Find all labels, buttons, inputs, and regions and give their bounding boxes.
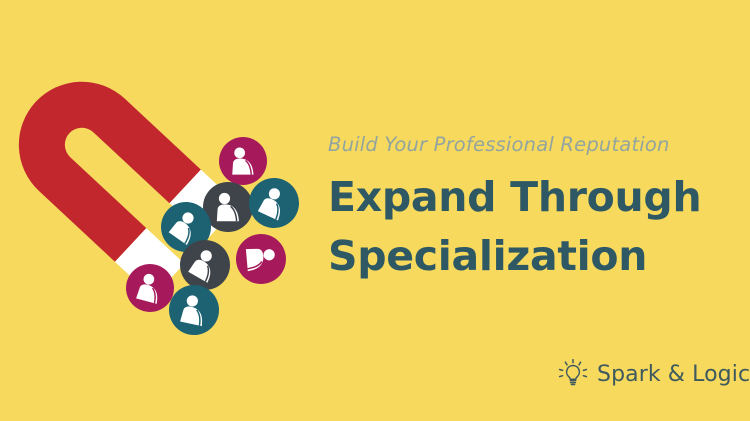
text-block: Build Your Professional Reputation Expan… — [328, 134, 728, 285]
slide-headline: Expand Through Specialization — [328, 168, 728, 284]
person-head — [234, 147, 245, 158]
slide-subtitle: Build Your Professional Reputation — [328, 134, 728, 155]
lightbulb-icon — [556, 357, 590, 391]
logo-wordmark: Spark & Logic — [597, 362, 750, 387]
person-circle-6 — [234, 232, 288, 286]
person-circle-1 — [219, 137, 267, 185]
headline-line-2: Specialization — [328, 227, 728, 285]
slide-canvas: Build Your Professional Reputation Expan… — [0, 0, 750, 421]
headline-line-1: Expand Through — [328, 168, 728, 226]
artwork-svg — [0, 0, 340, 421]
magnet-attraction-illustration — [0, 0, 340, 421]
brand-logo: Spark & Logic — [556, 357, 750, 391]
person-head — [219, 193, 230, 204]
